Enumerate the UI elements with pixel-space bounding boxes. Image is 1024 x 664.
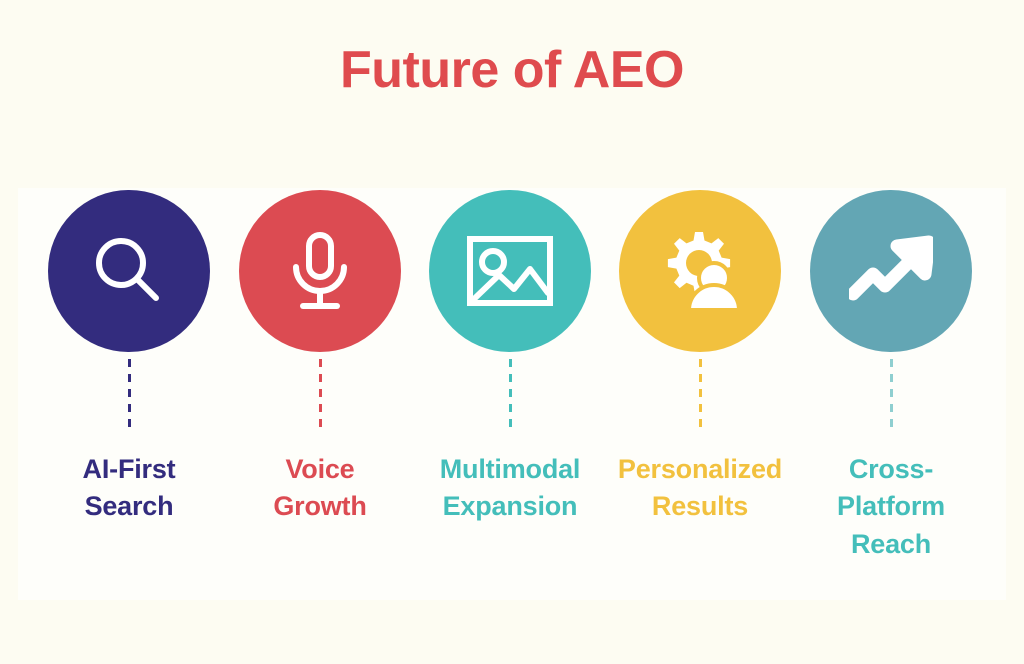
- pillar-label: Cross- Platform Reach: [811, 451, 971, 563]
- pillar-connector-line: [319, 359, 322, 433]
- pillar-connector-line: [509, 359, 512, 433]
- pillar-personalized-results[interactable]: Personalized Results: [605, 190, 795, 526]
- pillar-label-line1: Voice: [225, 451, 415, 488]
- image-icon: [466, 235, 554, 307]
- pillar-label-line3: Reach: [811, 526, 971, 563]
- pillar-ai-first-search[interactable]: AI-First Search: [34, 190, 224, 526]
- pillar-label-line2: Search: [34, 488, 224, 525]
- pillar-label-line1: Personalized: [595, 451, 805, 488]
- page-title: Future of AEO: [0, 44, 1024, 96]
- pillar-label-line2: Results: [595, 488, 805, 525]
- pillar-connector-line: [128, 359, 131, 433]
- pillar-label: AI-First Search: [34, 451, 224, 526]
- pillar-label: Voice Growth: [225, 451, 415, 526]
- pillar-icon-circle[interactable]: [239, 190, 401, 352]
- pillar-row: AI-First Search Voice Growth: [0, 190, 1024, 590]
- pillar-label-line2: Platform: [811, 488, 971, 525]
- pillar-label-line2: Expansion: [405, 488, 615, 525]
- pillar-voice-growth[interactable]: Voice Growth: [225, 190, 415, 526]
- pillar-multimodal-expansion[interactable]: Multimodal Expansion: [415, 190, 605, 526]
- pillar-label-line1: Cross-: [811, 451, 971, 488]
- pillar-icon-circle[interactable]: [429, 190, 591, 352]
- pillar-label: Personalized Results: [595, 451, 805, 526]
- magnifier-icon: [88, 230, 170, 312]
- pillar-label: Multimodal Expansion: [405, 451, 615, 526]
- pillar-connector-line: [890, 359, 893, 433]
- pillar-icon-circle[interactable]: [619, 190, 781, 352]
- pillar-icon-circle[interactable]: [48, 190, 210, 352]
- infographic-canvas: Future of AEO AI-First Search: [0, 0, 1024, 664]
- pillar-label-line1: Multimodal: [405, 451, 615, 488]
- pillar-label-line1: AI-First: [34, 451, 224, 488]
- pillar-icon-circle[interactable]: [810, 190, 972, 352]
- pillar-cross-platform-reach[interactable]: Cross- Platform Reach: [796, 190, 986, 563]
- trending-up-arrow-icon: [849, 232, 933, 310]
- pillar-connector-line: [699, 359, 702, 433]
- gear-person-icon: [657, 230, 743, 312]
- pillar-label-line2: Growth: [225, 488, 415, 525]
- microphone-icon: [282, 229, 358, 313]
